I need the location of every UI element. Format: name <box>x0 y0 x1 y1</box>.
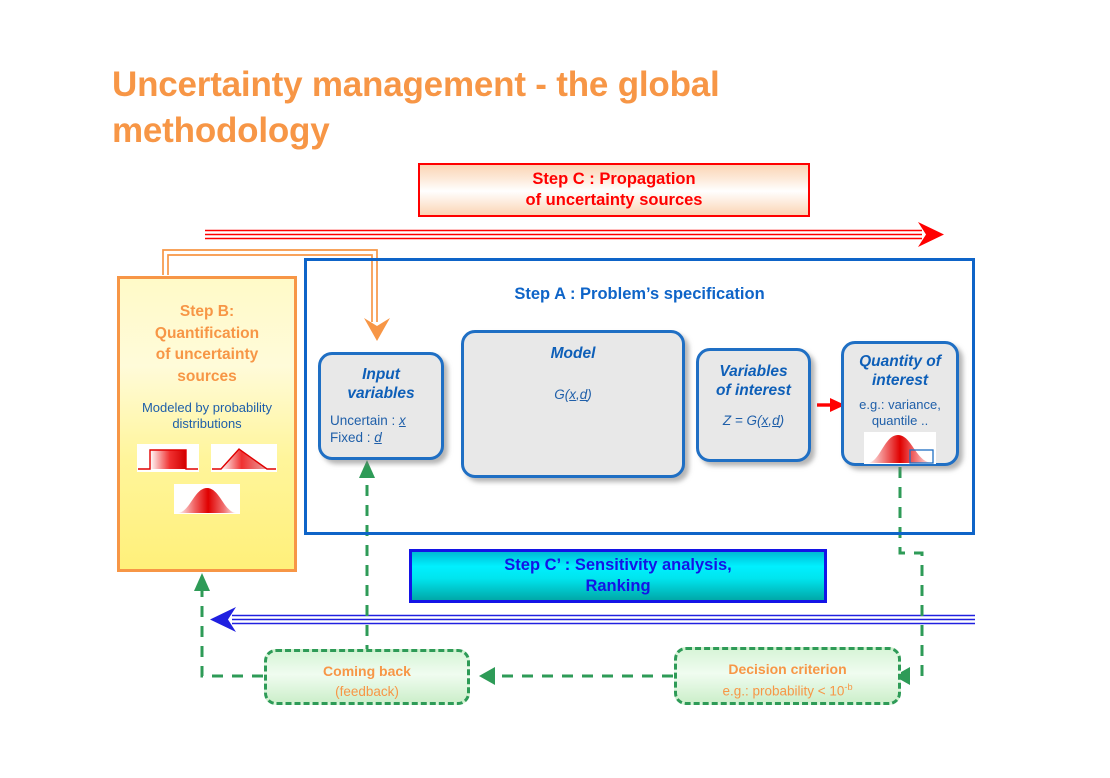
step-c-line2: of uncertainty sources <box>526 190 703 211</box>
coming-back-subtitle: (feedback) <box>267 684 467 699</box>
variables-of-interest-heading-line2: of interest <box>699 382 808 401</box>
step-b-heading: Step B: Quantification of uncertainty so… <box>120 301 294 388</box>
decision-criterion-box: Decision criterion e.g.: probability < 1… <box>674 647 901 705</box>
step-c-prime-banner: Step C’ : Sensitivity analysis, Ranking <box>409 549 827 603</box>
quantity-of-interest-heading-line2: interest <box>844 372 956 391</box>
quantity-of-interest-heading-line1: Quantity of <box>844 353 956 372</box>
step-c-line1: Step C : Propagation <box>532 169 695 190</box>
step-b-box: Step B: Quantification of uncertainty so… <box>117 276 297 572</box>
decision-criterion-heading: Decision criterion <box>677 661 898 677</box>
quantity-of-interest-line1: e.g.: variance, <box>844 397 956 413</box>
quantity-of-interest-body: e.g.: variance, quantile .. <box>844 397 956 429</box>
decision-criterion-formula-text: e.g.: probability < 10 <box>722 684 844 699</box>
quantity-of-interest-box: Quantity of interest e.g.: variance, qua… <box>841 341 959 466</box>
input-variables-uncertain: Uncertain : x <box>330 412 441 429</box>
input-variables-heading-line2: variables <box>321 385 441 404</box>
input-variables-heading: Input variables <box>321 366 441 404</box>
variables-of-interest-box: Variables of interest Z = G(x,d) <box>696 348 811 462</box>
step-c-banner: Step C : Propagation of uncertainty sour… <box>418 163 810 217</box>
step-b-heading-line3: of uncertainty <box>126 344 288 366</box>
coming-back-heading: Coming back <box>267 663 467 679</box>
coming-back-box: Coming back (feedback) <box>264 649 470 705</box>
step-b-heading-line2: Quantification <box>126 323 288 345</box>
model-heading: Model <box>464 345 682 364</box>
input-variables-fixed: Fixed : d <box>330 429 441 446</box>
step-c-prime-line2: Ranking <box>585 576 650 597</box>
sensitivity-arrow <box>210 607 975 632</box>
decision-criterion-exponent: -b <box>844 682 852 692</box>
distribution-thumbnails-row-1 <box>120 444 294 472</box>
model-box: Model G(x,d) <box>461 330 685 478</box>
step-b-subtitle-line2: distributions <box>126 416 288 432</box>
step-b-heading-line4: sources <box>126 366 288 388</box>
step-b-subtitle-line1: Modeled by probability <box>126 400 288 416</box>
variables-of-interest-heading-line1: Variables <box>699 363 808 382</box>
quantity-of-interest-heading: Quantity of interest <box>844 353 956 391</box>
model-formula: G(x,d) <box>464 386 682 403</box>
step-b-subtitle: Modeled by probability distributions <box>120 400 294 433</box>
slide-canvas: Uncertainty management - the global meth… <box>0 0 1110 778</box>
quantile-distribution-icon <box>864 432 936 464</box>
input-variables-box: Input variables Uncertain : x Fixed : d <box>318 352 444 460</box>
input-variables-heading-line1: Input <box>321 366 441 385</box>
step-b-heading-line1: Step B: <box>126 301 288 323</box>
variables-of-interest-heading: Variables of interest <box>699 363 808 401</box>
uniform-distribution-icon <box>137 444 199 472</box>
page-title: Uncertainty management - the global meth… <box>112 62 872 153</box>
quantity-of-interest-line2: quantile .. <box>844 413 956 429</box>
triangular-distribution-icon <box>211 444 277 472</box>
step-a-title: Step A : Problem’s specification <box>307 285 972 304</box>
input-variables-body: Uncertain : x Fixed : d <box>321 412 441 447</box>
step-c-prime-line1: Step C’ : Sensitivity analysis, <box>504 555 731 576</box>
decision-criterion-formula: e.g.: probability < 10-b <box>677 682 898 699</box>
normal-distribution-icon <box>174 484 240 512</box>
distribution-thumbnails-row-2 <box>120 484 294 512</box>
propagation-arrow <box>205 222 944 247</box>
variables-of-interest-formula: Z = G(x,d) <box>699 412 808 429</box>
